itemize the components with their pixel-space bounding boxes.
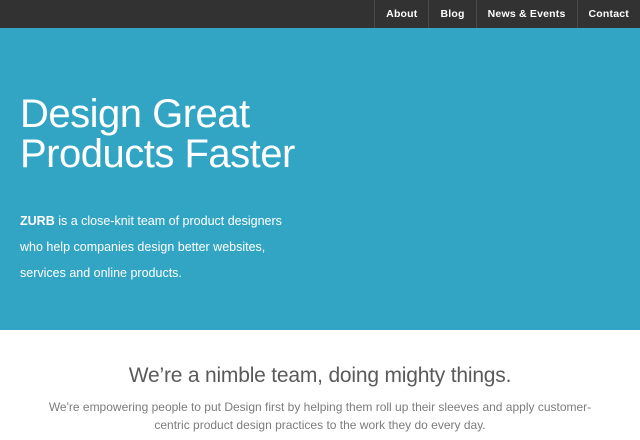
intro-section: We’re a nimble team, doing mighty things… (0, 330, 640, 440)
section-subtext-line-1: We're empowering people to put Design fi… (30, 398, 610, 416)
hero-paragraph-line-2: who help companies design better website… (20, 234, 282, 260)
page-root: About Blog News & Events Contact Design … (0, 0, 640, 440)
hero-paragraph-line-3: services and online products. (20, 260, 282, 286)
brand-name: ZURB (20, 214, 55, 228)
nav-item-news-and-events[interactable]: News & Events (476, 0, 577, 28)
nav-item-label: About (386, 8, 417, 20)
hero-paragraph-line-1-rest: is a close-knit team of product designer… (55, 214, 282, 228)
section-heading: We’re a nimble team, doing mighty things… (0, 330, 640, 389)
nav-item-blog[interactable]: Blog (428, 0, 475, 28)
nav-item-label: Contact (589, 8, 629, 20)
nav-item-label: News & Events (488, 8, 566, 20)
hero-title: Design Great Products Faster (20, 94, 295, 174)
nav-item-label: Blog (440, 8, 464, 20)
section-subtext-line-2: centric product design practices to the … (30, 416, 610, 434)
hero-title-line-1: Design Great (20, 92, 250, 136)
section-subtext: We're empowering people to put Design fi… (30, 389, 610, 434)
nav-item-about[interactable]: About (374, 0, 428, 28)
hero-banner: Design Great Products Faster ZURB is a c… (0, 28, 640, 330)
nav-item-contact[interactable]: Contact (577, 0, 640, 28)
hero-paragraph-line-1: ZURB is a close-knit team of product des… (20, 208, 282, 234)
hero-title-line-2: Products Faster (20, 134, 295, 174)
hero-paragraph: ZURB is a close-knit team of product des… (20, 208, 282, 286)
nav-list: About Blog News & Events Contact (374, 0, 640, 28)
top-navigation-bar: About Blog News & Events Contact (0, 0, 640, 28)
